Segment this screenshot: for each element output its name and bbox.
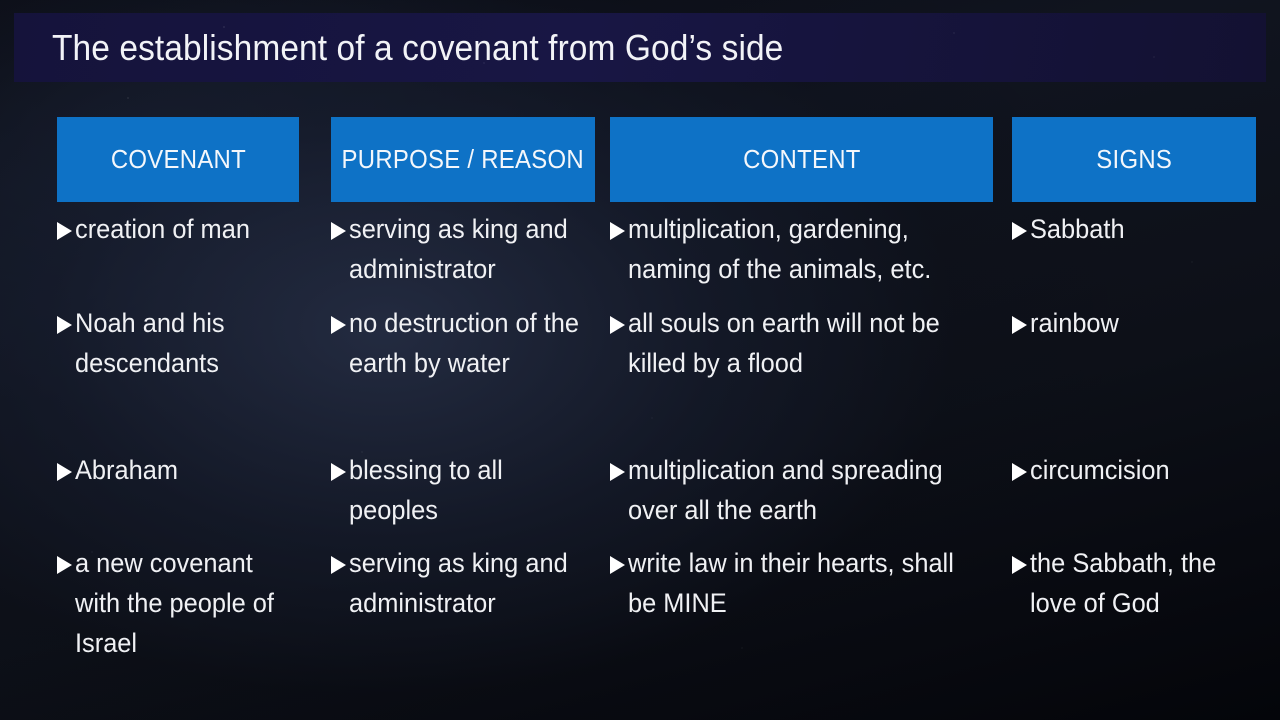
table-cell: no destruction of the earth by water: [331, 303, 595, 383]
list-item: the Sabbath, the love of God: [1012, 543, 1256, 623]
table-cell: a new covenant with the people of Israel: [57, 543, 299, 663]
triangle-right-icon: [610, 316, 627, 334]
cell-text: all souls on earth will not be killed by…: [628, 303, 971, 383]
table-cell: Abraham: [57, 450, 299, 490]
list-item: Abraham: [57, 450, 299, 490]
cell-text: Abraham: [75, 450, 286, 490]
column-header-content: CONTENT: [610, 117, 993, 202]
triangle-right-icon: [57, 463, 74, 481]
list-item: serving as king and administrator: [331, 543, 595, 623]
triangle-right-icon: [57, 556, 74, 574]
table-cell: blessing to all peoples: [331, 450, 595, 530]
list-item: multiplication and spreading over all th…: [610, 450, 993, 530]
triangle-right-icon: [57, 316, 74, 334]
triangle-right-icon: [331, 463, 348, 481]
triangle-right-icon: [331, 222, 348, 240]
table-cell: creation of man: [57, 209, 299, 249]
column-header-label: PURPOSE / REASON: [342, 144, 584, 175]
list-item: Noah and his descendants: [57, 303, 299, 383]
list-item: a new covenant with the people of Israel: [57, 543, 299, 663]
list-item: all souls on earth will not be killed by…: [610, 303, 993, 383]
table-cell: Noah and his descendants: [57, 303, 299, 383]
triangle-right-icon: [331, 556, 348, 574]
table-cell: Sabbath: [1012, 209, 1256, 249]
table-cell: multiplication, gardening, naming of the…: [610, 209, 993, 289]
triangle-right-icon: [331, 316, 348, 334]
presentation-slide: The establishment of a covenant from God…: [0, 0, 1280, 720]
column-header-signs: SIGNS: [1012, 117, 1256, 202]
list-item: creation of man: [57, 209, 299, 249]
column-header-covenant: COVENANT: [57, 117, 299, 202]
list-item: blessing to all peoples: [331, 450, 595, 530]
cell-text: no destruction of the earth by water: [349, 303, 580, 383]
triangle-right-icon: [1012, 222, 1029, 240]
cell-text: creation of man: [75, 209, 286, 249]
cell-text: Sabbath: [1030, 209, 1242, 249]
table-cell: serving as king and administrator: [331, 209, 595, 289]
list-item: circumcision: [1012, 450, 1256, 490]
table-cell: serving as king and administrator: [331, 543, 595, 623]
cell-text: the Sabbath, the love of God: [1030, 543, 1242, 623]
triangle-right-icon: [57, 222, 74, 240]
list-item: no destruction of the earth by water: [331, 303, 595, 383]
table-cell: the Sabbath, the love of God: [1012, 543, 1256, 623]
table-cell: write law in their hearts, shall be MINE: [610, 543, 993, 623]
table-header-row: COVENANT PURPOSE / REASON CONTENT SIGNS: [0, 117, 1280, 202]
cell-text: write law in their hearts, shall be MINE: [628, 543, 971, 623]
column-header-label: COVENANT: [110, 144, 245, 175]
cell-text: multiplication and spreading over all th…: [628, 450, 971, 530]
column-header-label: SIGNS: [1096, 144, 1172, 175]
cell-text: rainbow: [1030, 303, 1242, 343]
cell-text: a new covenant with the people of Israel: [75, 543, 286, 663]
triangle-right-icon: [1012, 556, 1029, 574]
list-item: Sabbath: [1012, 209, 1256, 249]
table-cell: multiplication and spreading over all th…: [610, 450, 993, 530]
triangle-right-icon: [1012, 316, 1029, 334]
list-item: write law in their hearts, shall be MINE: [610, 543, 993, 623]
list-item: multiplication, gardening, naming of the…: [610, 209, 993, 289]
triangle-right-icon: [610, 556, 627, 574]
page-title: The establishment of a covenant from God…: [52, 27, 783, 69]
list-item: rainbow: [1012, 303, 1256, 343]
cell-text: serving as king and administrator: [349, 209, 580, 289]
cell-text: blessing to all peoples: [349, 450, 580, 530]
table-cell: all souls on earth will not be killed by…: [610, 303, 993, 383]
covenant-table: COVENANT PURPOSE / REASON CONTENT SIGNS …: [0, 117, 1280, 202]
cell-text: circumcision: [1030, 450, 1242, 490]
triangle-right-icon: [610, 222, 627, 240]
list-item: serving as king and administrator: [331, 209, 595, 289]
column-header-purpose: PURPOSE / REASON: [331, 117, 595, 202]
column-header-label: CONTENT: [743, 144, 861, 175]
cell-text: Noah and his descendants: [75, 303, 286, 383]
title-band: The establishment of a covenant from God…: [14, 13, 1266, 82]
cell-text: multiplication, gardening, naming of the…: [628, 209, 971, 289]
table-cell: circumcision: [1012, 450, 1256, 490]
triangle-right-icon: [1012, 463, 1029, 481]
table-cell: rainbow: [1012, 303, 1256, 343]
cell-text: serving as king and administrator: [349, 543, 580, 623]
triangle-right-icon: [610, 463, 627, 481]
